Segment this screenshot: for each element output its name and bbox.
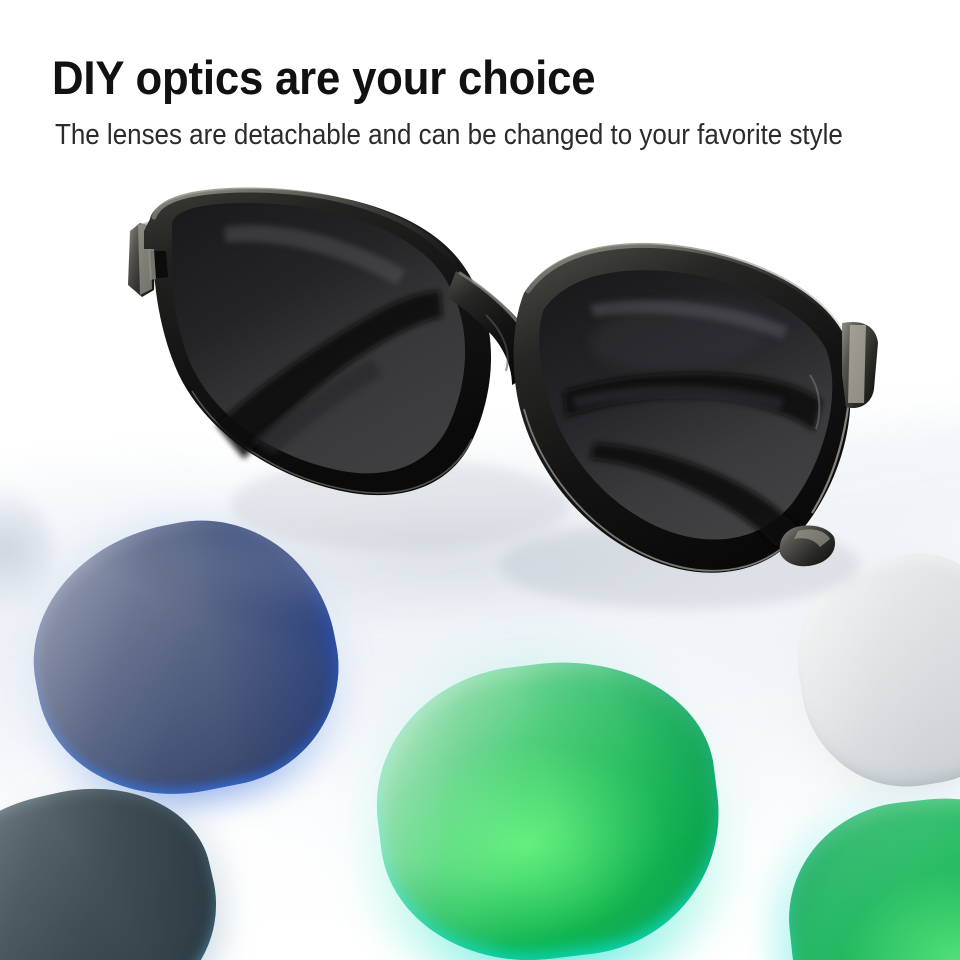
right-hinge-highlight	[848, 325, 866, 403]
green2-lens-facet-shade	[778, 786, 960, 960]
green-lens-facet-lower	[361, 644, 734, 960]
green-lens-body	[361, 644, 734, 960]
green-mirror-lens-secondary	[778, 786, 960, 960]
green2-lens-body	[778, 786, 960, 960]
product-banner: DIY optics are your choice The lenses ar…	[0, 0, 960, 960]
page-title: DIY optics are your choice	[52, 50, 595, 105]
green-mirror-lens	[361, 644, 734, 960]
sunglasses-product-image	[120, 175, 880, 595]
page-subtitle: The lenses are detachable and can be cha…	[55, 119, 843, 152]
